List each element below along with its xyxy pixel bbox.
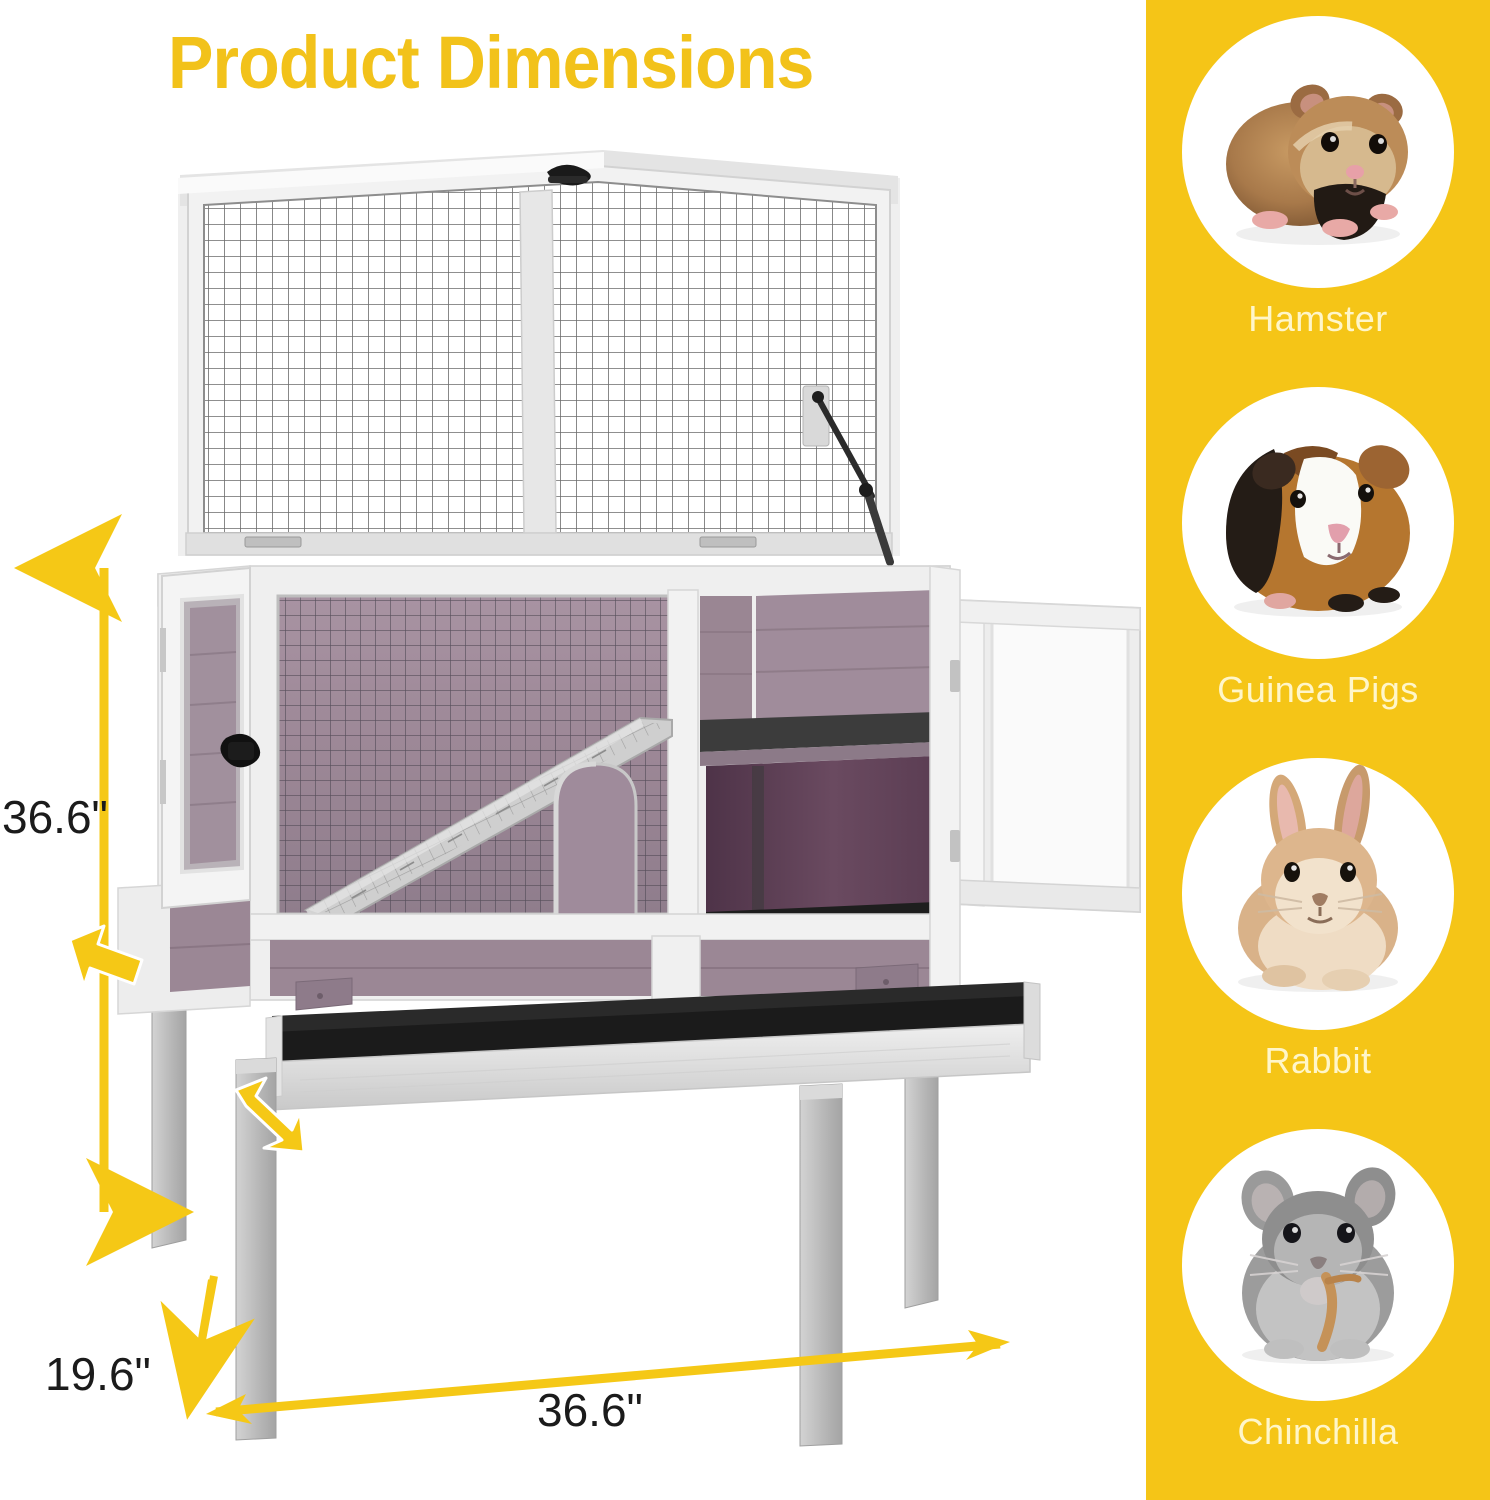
animal-label-hamster: Hamster: [1248, 298, 1388, 340]
chinchilla-photo-circle: [1182, 1129, 1454, 1401]
animal-cell-hamster: Hamster: [1146, 16, 1490, 387]
animal-cell-guinea-pigs: Guinea Pigs: [1146, 387, 1490, 758]
depth-dimension-label: 19.6": [45, 1347, 151, 1401]
height-dimension-label: 36.6": [2, 790, 108, 844]
animal-cell-rabbit: Rabbit: [1146, 758, 1490, 1129]
animal-label-guinea-pigs: Guinea Pigs: [1217, 669, 1419, 711]
width-dimension-label: 36.6": [537, 1383, 643, 1437]
depth-callout-arrow-lower: [236, 1078, 304, 1152]
hamster-photo-circle: [1182, 16, 1454, 288]
animal-sidebar: Hamster: [1146, 0, 1490, 1500]
hamster-icon: [1188, 22, 1448, 282]
depth-dimension-arrow: [178, 1276, 214, 1412]
guinea-pig-icon: [1188, 393, 1448, 653]
dimension-arrows-layer: [0, 0, 1146, 1500]
rabbit-icon: [1188, 764, 1448, 1024]
animal-label-chinchilla: Chinchilla: [1237, 1411, 1398, 1453]
guinea-pig-photo-circle: [1182, 387, 1454, 659]
chinchilla-icon: [1188, 1135, 1448, 1395]
animal-cell-chinchilla: Chinchilla: [1146, 1129, 1490, 1500]
rabbit-photo-circle: [1182, 758, 1454, 1030]
infographic-root: Product Dimensions: [0, 0, 1490, 1500]
animal-label-rabbit: Rabbit: [1264, 1040, 1371, 1082]
